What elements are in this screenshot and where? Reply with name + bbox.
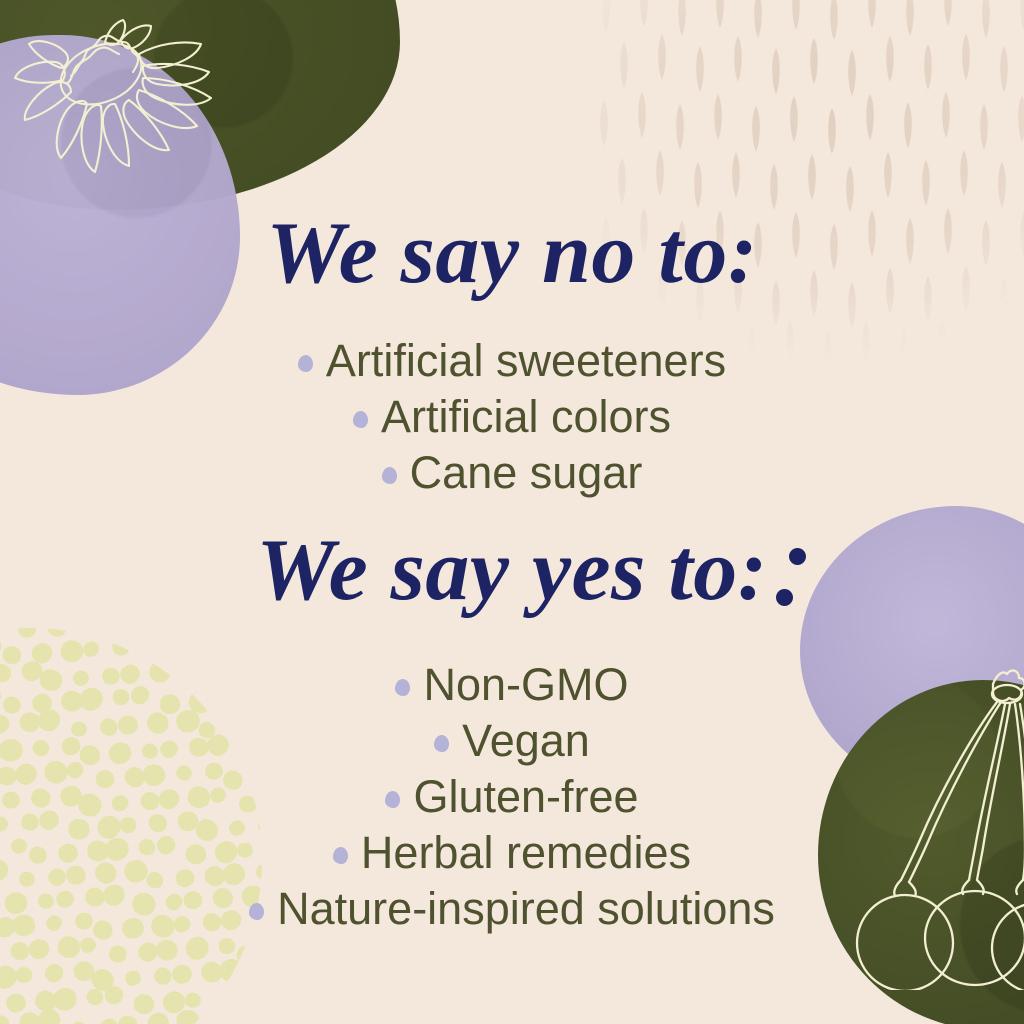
list-item-label: Artificial sweeteners: [326, 335, 726, 386]
list-item: Non-GMO: [0, 657, 1024, 713]
bullet-dot-icon: [385, 791, 400, 808]
list-item: Gluten-free: [0, 769, 1024, 825]
list-item: Herbal remedies: [0, 825, 1024, 881]
list-item: Nature-inspired solutions: [0, 881, 1024, 937]
list-item: Cane sugar: [0, 445, 1024, 501]
yes-list: Non-GMO Vegan Gluten-free Herbal remedie…: [0, 657, 1024, 937]
bullet-dot-icon: [249, 903, 264, 920]
bullet-dot-icon: [298, 355, 313, 372]
list-item: Vegan: [0, 713, 1024, 769]
no-list: Artificial sweeteners Artificial colors …: [0, 333, 1024, 501]
list-item-label: Gluten-free: [413, 771, 638, 822]
list-item-label: Herbal remedies: [361, 827, 691, 878]
bullet-dot-icon: [395, 679, 410, 696]
list-item-label: Non-GMO: [423, 659, 628, 710]
promotional-graphic: We say no to: Artificial sweeteners Arti…: [0, 0, 1024, 1024]
list-item: Artificial sweeteners: [0, 333, 1024, 389]
list-item-label: Cane sugar: [410, 447, 643, 498]
list-item-label: Vegan: [462, 715, 590, 766]
bullet-dot-icon: [382, 467, 397, 484]
heading-we-say-yes-to: We say yes to:: [0, 520, 1024, 621]
bullet-dot-icon: [434, 735, 449, 752]
bullet-dot-icon: [333, 847, 348, 864]
list-item-label: Nature-inspired solutions: [277, 883, 775, 934]
list-item-label: Artificial colors: [381, 391, 671, 442]
bullet-dot-icon: [353, 411, 368, 428]
list-item: Artificial colors: [0, 389, 1024, 445]
heading-we-say-no-to: We say no to:: [0, 203, 1024, 304]
